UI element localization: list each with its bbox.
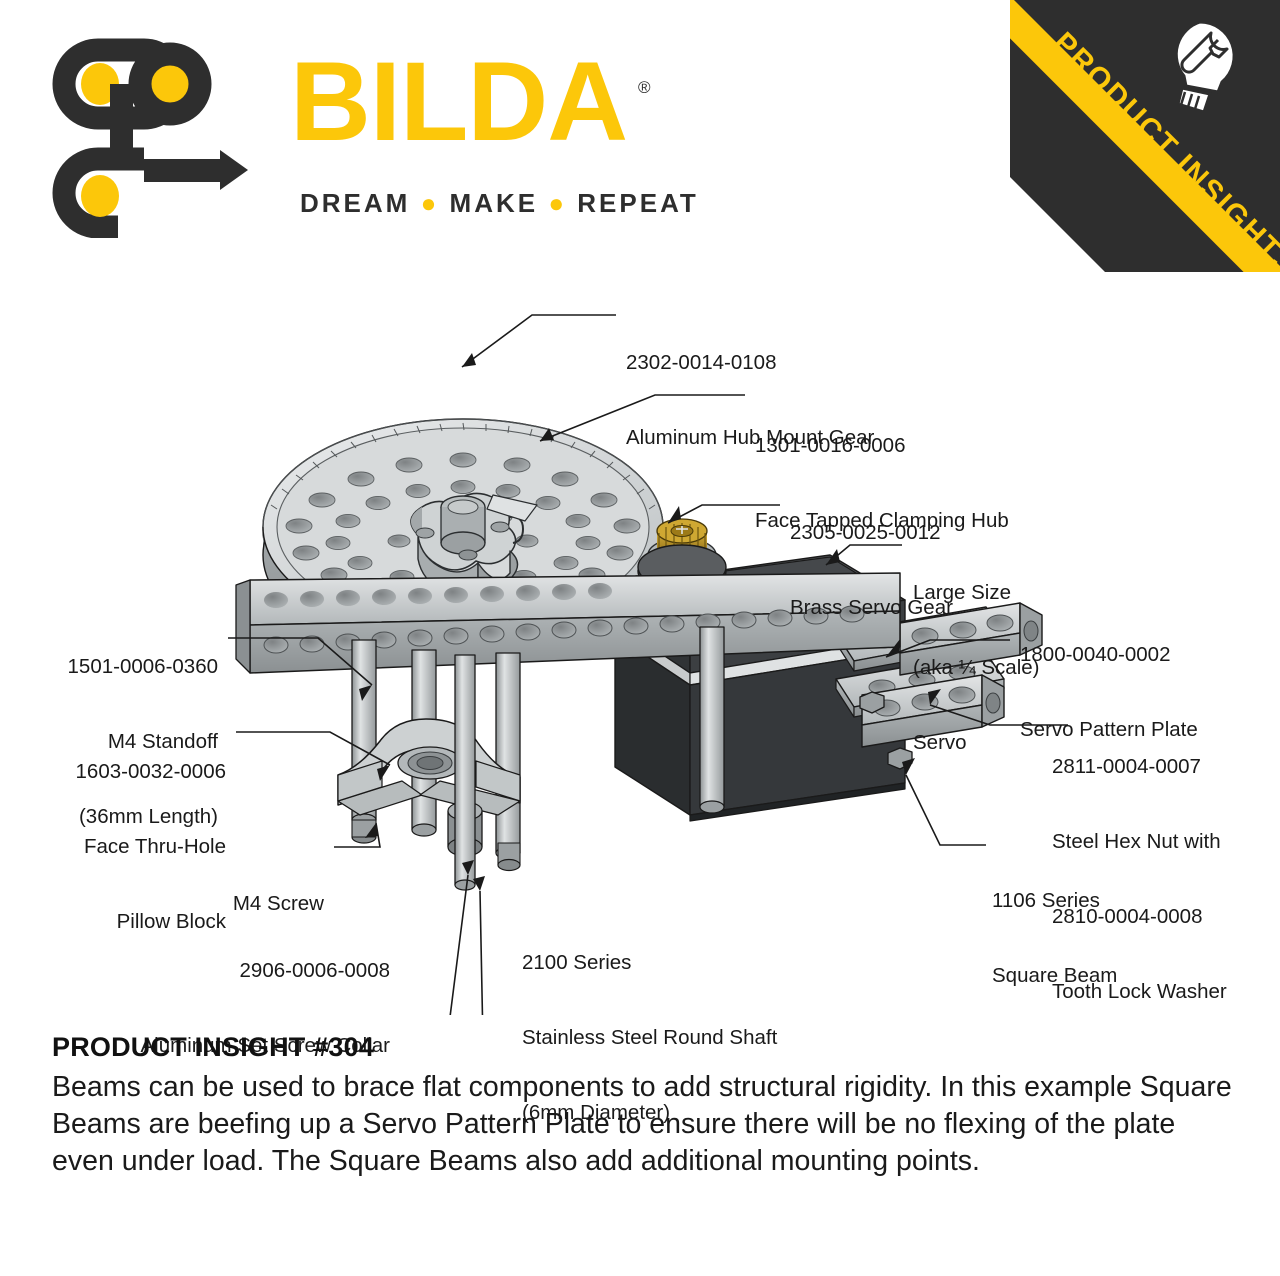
brand-logo: BILDA ® DREAM ● MAKE ● REPEAT <box>52 38 632 238</box>
registered-trademark: ® <box>638 78 651 98</box>
stainless-steel-round-shaft-part <box>455 655 475 890</box>
lightbulb-wrench-icon <box>1152 16 1248 126</box>
product-insights-banner: PRODUCT INSIGHTS <box>1010 0 1280 272</box>
callout-sku: 2906-0006-0008 <box>60 958 390 983</box>
gobilda-logo-mark <box>52 38 252 238</box>
tagline-separator-1: ● <box>421 188 440 218</box>
callout-sku: 1301-0016-0006 <box>755 433 1009 458</box>
insight-title: PRODUCT INSIGHT #304 <box>52 1032 1232 1063</box>
callout-sku-1: 2811-0004-0007 <box>1052 754 1227 779</box>
tagline-separator-2: ● <box>548 188 567 218</box>
product-insight-block: PRODUCT INSIGHT #304 Beams can be used t… <box>52 1032 1232 1180</box>
callout-square-beam: 1106 Series Square Beam <box>992 838 1117 1013</box>
brand-tagline: DREAM ● MAKE ● REPEAT <box>300 188 699 219</box>
callout-desc: Square Beam <box>992 963 1117 988</box>
callout-sku: 1800-0040-0002 <box>1020 642 1198 667</box>
insight-body: Beams can be used to brace flat componen… <box>52 1069 1232 1180</box>
svg-text:BILDA: BILDA <box>290 46 627 164</box>
tagline-make: MAKE <box>450 188 539 218</box>
tagline-dream: DREAM <box>300 188 410 218</box>
callout-sku: 1603-0032-0006 <box>0 759 226 784</box>
callout-sku: 2302-0014-0108 <box>626 350 874 375</box>
callout-sku: 1501-0006-0360 <box>0 654 218 679</box>
gobilda-wordmark: BILDA <box>290 46 650 166</box>
callout-sku: 1106 Series <box>992 888 1117 913</box>
tagline-repeat: REPEAT <box>577 188 699 218</box>
callout-sku: 2100 Series <box>522 950 777 975</box>
